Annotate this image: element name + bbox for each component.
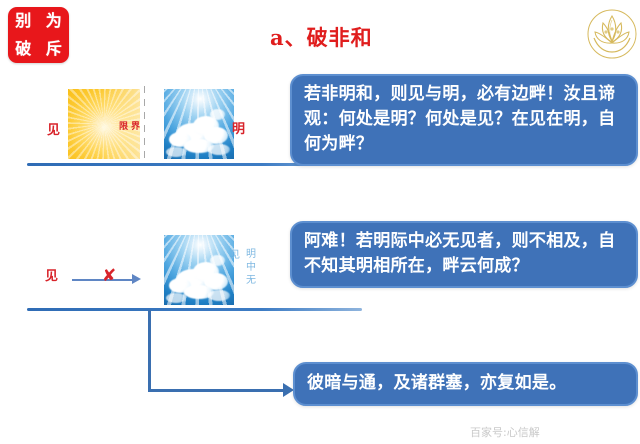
badge-char-3: 破: [15, 41, 31, 57]
arrow-head-icon: [132, 274, 141, 284]
boundary-label: 限界: [119, 119, 143, 132]
callout-box-3: 彼暗与通，及诸群塞，亦复如是。: [293, 362, 638, 406]
vertical-char-3: 无: [245, 274, 257, 287]
badge-char-4: 斥: [46, 41, 62, 57]
row2-left-label: 见: [45, 265, 58, 284]
boundary-dashed-line: [144, 86, 145, 163]
connector-vertical-segment: [148, 310, 151, 392]
row2-vertical-label: 明 中 无: [245, 248, 257, 287]
row2-vertical-side-label: 见: [229, 249, 241, 262]
vertical-char-2: 中: [245, 261, 257, 274]
badge-char-1: 别: [15, 13, 31, 29]
slide-canvas: 别 为 破 斥 a、破非和 见 限界: [0, 0, 640, 444]
connector-horizontal-segment: [148, 389, 288, 392]
blocked-arrow: ✘: [72, 271, 144, 289]
row1-left-label: 见: [47, 119, 60, 138]
row1-right-label: 明: [232, 118, 245, 137]
callout-box-1: 若非明和，则见与明，必有边畔！汝且谛观：何处是明？何处是见？在见在明，自何为畔？: [290, 74, 638, 166]
divider-rule-bottom: [27, 308, 362, 311]
badge-char-2: 为: [46, 13, 62, 29]
sky-clouds-block-row1: [164, 89, 234, 159]
lotus-flower-icon: [586, 8, 638, 60]
callout-box-2: 阿难！若明际中必无见者，则不相及，自不知其明相所在，畔云何成？: [290, 221, 638, 288]
sky-clouds-block-row2: [164, 235, 234, 305]
topic-badge: 别 为 破 斥: [8, 7, 69, 63]
vertical-char-1: 明: [245, 248, 257, 261]
watermark-text: 百家号:心信解: [470, 424, 540, 442]
cross-mark-icon: ✘: [102, 268, 116, 285]
page-title: a、破非和: [270, 22, 373, 52]
